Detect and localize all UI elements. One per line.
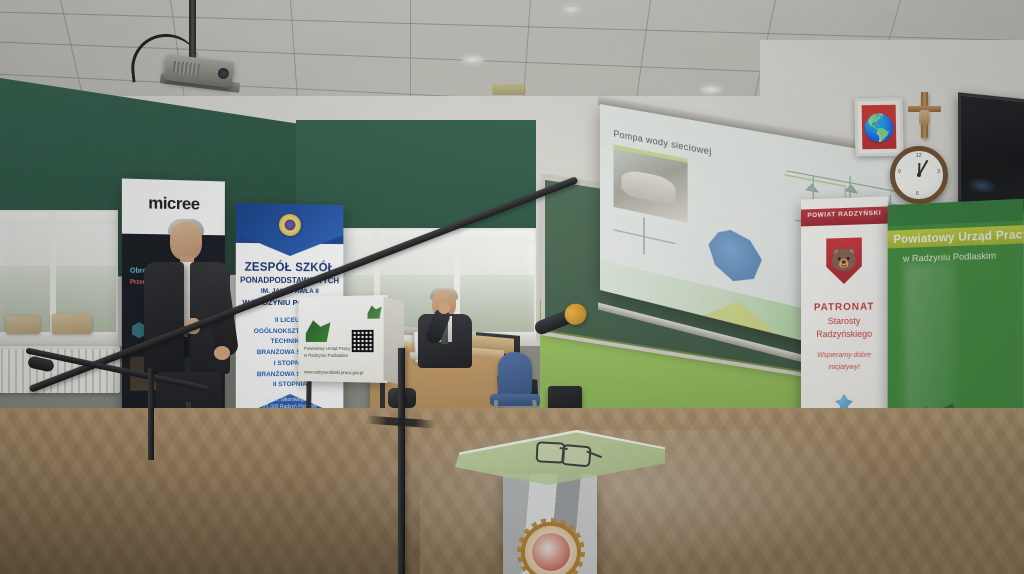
- polish-emblem-frame: 🌎: [854, 98, 903, 157]
- powiat-coat-of-arms: 🐻: [826, 237, 862, 284]
- pup-logo-icon: [368, 305, 382, 318]
- wall-mounted-display: [958, 92, 1024, 212]
- micree-logo-text: micree: [122, 193, 225, 215]
- powiat-header-bar: POWIAT RADZYŃSKI: [801, 206, 888, 226]
- second-mic-stand: [148, 368, 154, 460]
- projector-lens: [217, 67, 229, 79]
- head: [170, 222, 202, 260]
- slide-cross-section: [614, 211, 676, 261]
- eagle-icon: 🌎: [863, 115, 896, 142]
- school-crest-icon: [279, 214, 301, 236]
- powiat-title1: PATRONAT: [801, 301, 888, 313]
- school-emblem: [525, 526, 577, 574]
- projector-mount-pipe: [189, 0, 196, 60]
- slide-photo: [614, 145, 688, 223]
- powiat-title3: Radzyńskiego: [801, 329, 888, 340]
- classroom-presentation-scene: Pompa wody sieciowej: [0, 0, 1024, 574]
- floor-shadow: [0, 470, 420, 574]
- recessed-downlight: [560, 5, 582, 14]
- recessed-downlight: [462, 55, 484, 64]
- recessed-downlight: [700, 85, 722, 94]
- powiat-title2: Starosty: [801, 315, 888, 326]
- powiat-slogan: Wspieramy dobre inicjatywy!: [801, 350, 888, 374]
- slide-impeller-cutaway: [708, 225, 764, 288]
- powiat-header-text: POWIAT RADZYŃSKI: [801, 209, 888, 219]
- bear-icon: 🐻: [831, 249, 858, 272]
- ceiling-vent: [492, 84, 526, 95]
- wall-clock: 12 3 6 9: [890, 146, 948, 204]
- mic-stand-mast: [398, 348, 405, 574]
- crucifix-figure: [919, 110, 930, 125]
